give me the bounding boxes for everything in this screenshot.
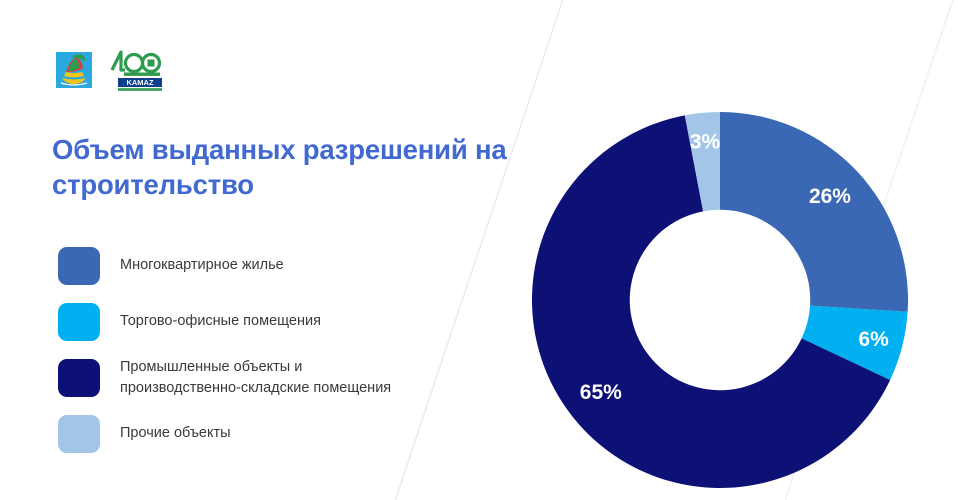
legend-swatch-multi-apartment-housing bbox=[58, 247, 100, 285]
legend-swatch-other bbox=[58, 415, 100, 453]
legend-label-other: Прочие объекты bbox=[120, 423, 231, 444]
legend-swatch-retail-office bbox=[58, 303, 100, 341]
legend-swatch-industrial-warehouse bbox=[58, 359, 100, 397]
legend-item-industrial-warehouse[interactable]: Промышленные объекты и производственно-с… bbox=[58, 355, 478, 401]
donut-slice-label: 26% bbox=[809, 185, 851, 208]
legend-item-other[interactable]: Прочие объекты bbox=[58, 411, 478, 457]
anniversary-400-kamaz-logo: KAMAZ bbox=[108, 48, 170, 92]
donut-slice-label: 65% bbox=[580, 381, 622, 404]
legend-item-multi-apartment-housing[interactable]: Многоквартирное жилье bbox=[58, 243, 478, 289]
svg-text:KAMAZ: KAMAZ bbox=[126, 78, 153, 87]
chart-legend: Многоквартирное жилье Торгово-офисные по… bbox=[58, 243, 478, 457]
slide-canvas: KAMAZ Объем выданных разрешений на строи… bbox=[0, 0, 958, 500]
legend-label-retail-office: Торгово-офисные помещения bbox=[120, 311, 321, 332]
donut-slice-label: 6% bbox=[859, 328, 890, 351]
donut-slice-label: 3% bbox=[690, 131, 721, 154]
legend-label-multi-apartment-housing: Многоквартирное жилье bbox=[120, 255, 284, 276]
donut-chart-svg: 26%6%65%3% bbox=[524, 104, 916, 496]
logo-row: KAMAZ bbox=[52, 48, 170, 92]
donut-chart: 26%6%65%3% bbox=[524, 104, 916, 496]
legend-label-industrial-warehouse: Промышленные объекты и производственно-с… bbox=[120, 357, 391, 399]
legend-item-retail-office[interactable]: Торгово-офисные помещения bbox=[58, 299, 478, 345]
page-title: Объем выданных разрешений на строительст… bbox=[52, 132, 552, 202]
donut-slice-layer bbox=[532, 112, 908, 488]
donut-slice[interactable] bbox=[720, 112, 908, 312]
coat-of-arms-logo bbox=[52, 48, 96, 92]
